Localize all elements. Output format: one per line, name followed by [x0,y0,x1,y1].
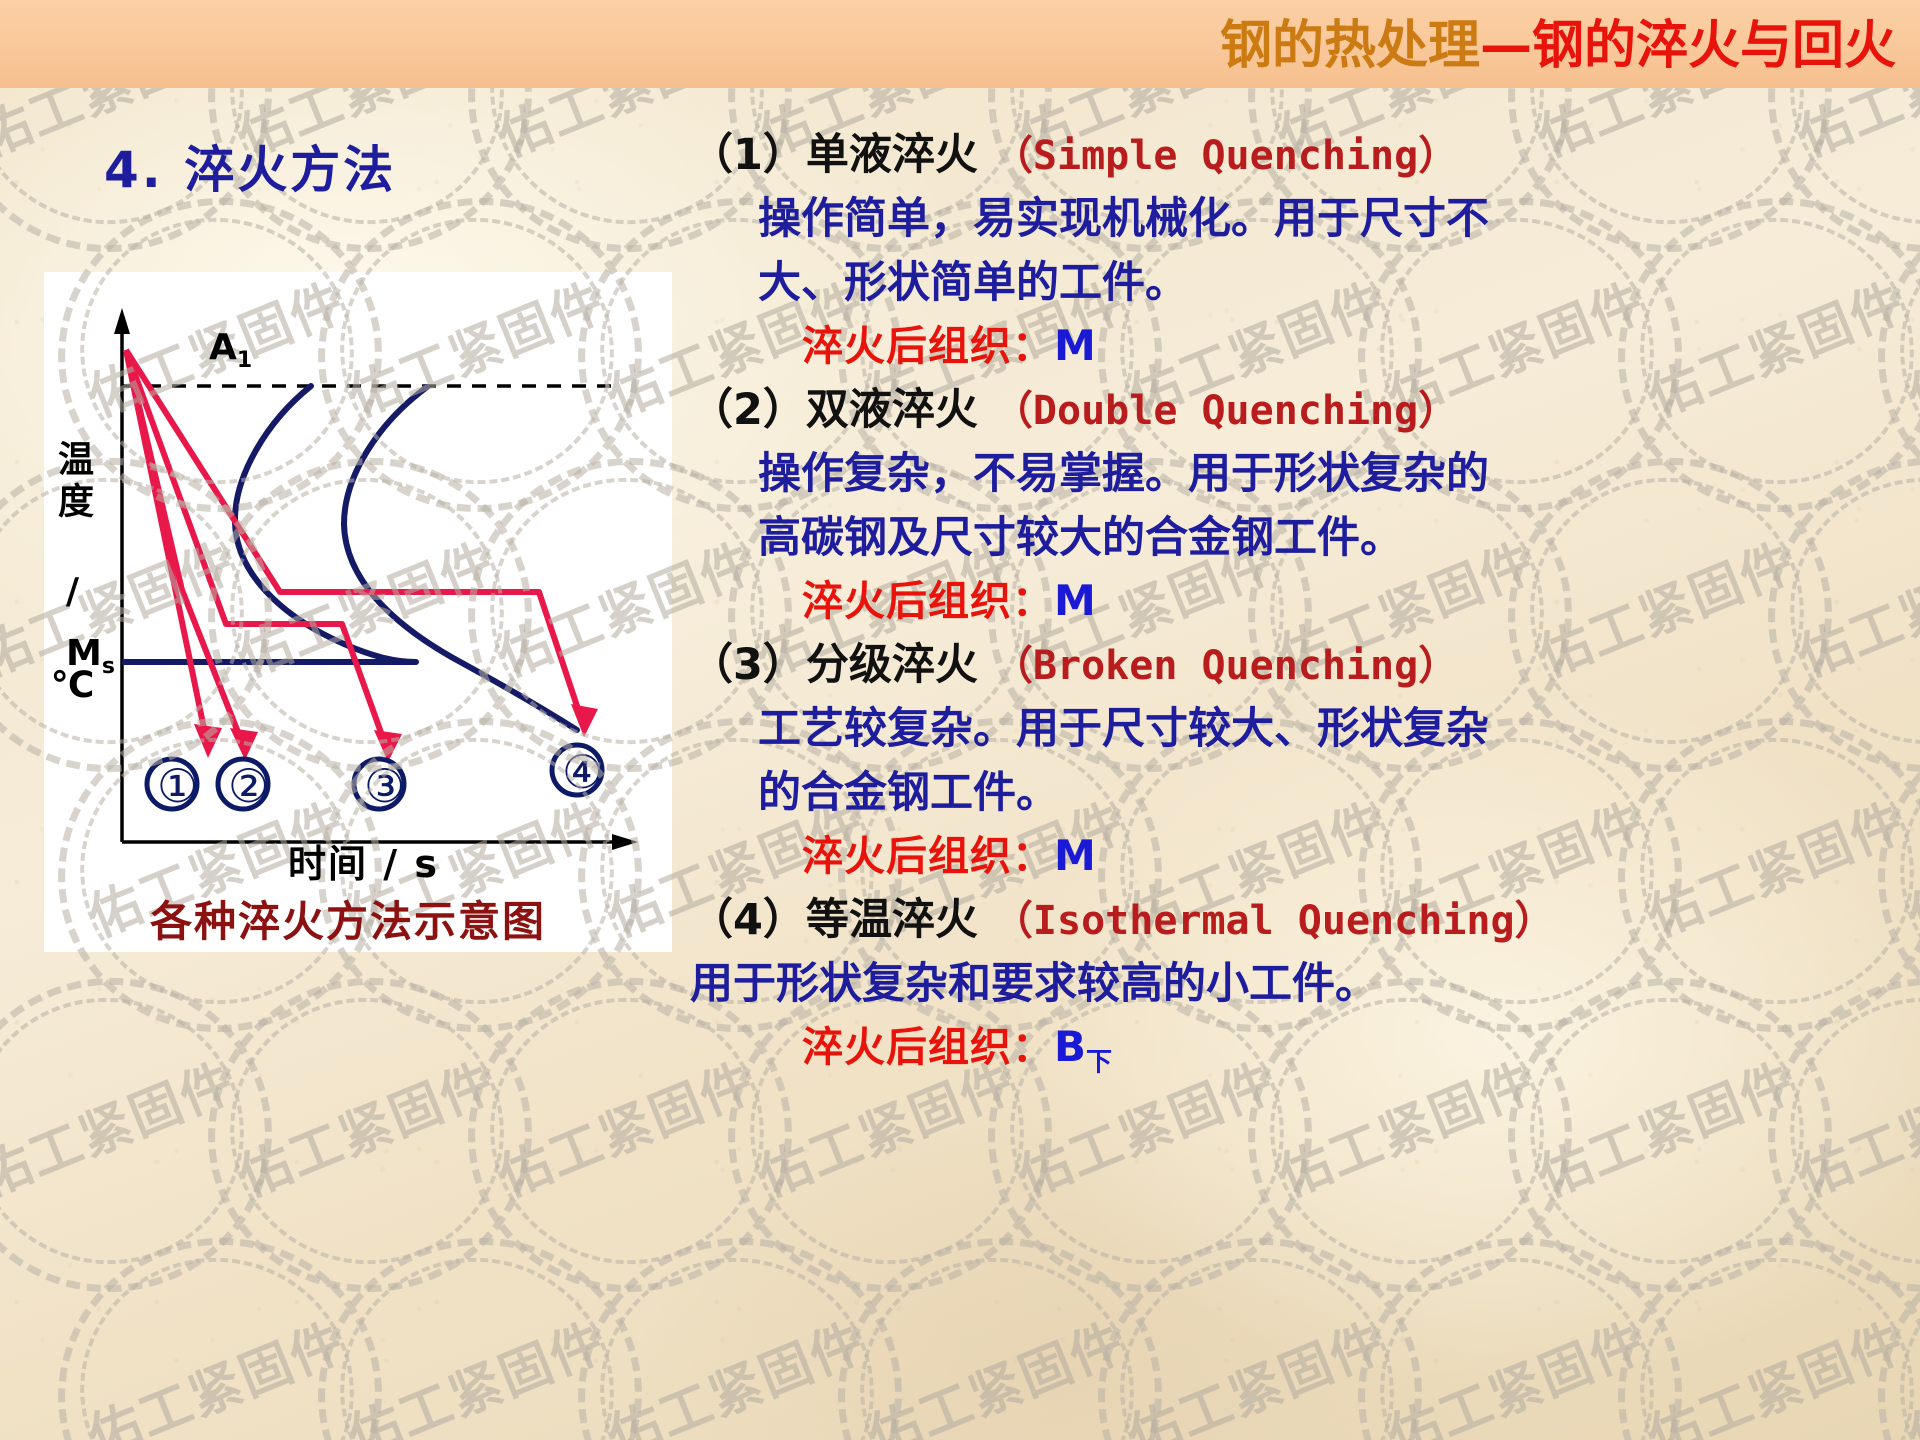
method-description-line: 大、形状简单的工件。 [690,251,1902,315]
ttt-finish-curve [344,387,577,730]
watermark-text: 佑工紧固件 [828,1289,1162,1440]
watermark-stamp: 佑工紧固件 [830,1230,1160,1440]
method-result: 淬火后组织：M [690,825,1902,887]
watermark-text: 佑工紧固件 [48,1289,382,1440]
content-list: （1）单液淬火 （Simple Quenching）操作简单，易实现机械化。用于… [690,124,1902,1095]
marker-label-4: ④ [562,745,603,799]
method-number: （2） [690,385,806,435]
page-title-main: 钢的热处理 [1220,16,1480,76]
slide-canvas: 佑工紧固件佑工紧固件佑工紧固件佑工紧固件佑工紧固件佑工紧固件佑工紧固件佑工紧固件… [0,0,1920,1440]
quench-method-block: （3）分级淬火 （Broken Quenching）工艺较复杂。用于尺寸较大、形… [690,634,1902,887]
watermark-text: 佑工紧固件 [198,1029,532,1222]
figure-caption: 各种淬火方法示意图 [150,888,546,949]
method-number: （4） [690,895,806,945]
watermark-stamp: 佑工紧固件 [1610,1230,1920,1440]
watermark-ring-outer [1598,1217,1920,1440]
watermark-ring-outer [0,957,292,1313]
watermark-ring-inner [0,972,269,1289]
watermark-ring-outer [558,1217,923,1440]
x-axis-label: 时间 / s [288,833,439,888]
result-value: M [1054,321,1096,370]
method-name-cn: 单液淬火 [806,130,993,180]
method-description-line: 操作复杂，不易掌握。用于形状复杂的 [690,442,1902,506]
method-name-en: （Broken Quenching） [993,643,1458,689]
method-heading: （1）单液淬火 （Simple Quenching） [690,124,1902,187]
result-value: M [1054,831,1096,880]
method-description-line: 用于形状复杂和要求较高的小工件。 [690,952,1902,1016]
watermark-stamp: 佑工紧固件 [1090,1230,1420,1440]
watermark-ring-inner [55,1232,378,1440]
marker-label-2: ② [228,759,269,813]
watermark-ring-outer [1078,1217,1443,1440]
method-name-cn: 等温淬火 [806,895,993,945]
watermark-ring-inner [1615,1232,1920,1440]
method-name-en: （Isothermal Quenching） [993,898,1555,944]
method-description-line: 操作简单，易实现机械化。用于尺寸不 [690,187,1902,251]
a1-label: A1 [209,327,252,373]
watermark-stamp: 佑工紧固件 [310,1230,640,1440]
watermark-stamp: 佑工紧固件 [0,970,270,1300]
method-name-cn: 双液淬火 [806,385,993,435]
method-description-line: 工艺较复杂。用于尺寸较大、形状复杂 [690,697,1902,761]
watermark-ring-outer [818,1217,1183,1440]
watermark-text: 佑工紧固件 [1868,1289,1920,1440]
watermark-ring-inner [1875,1232,1920,1440]
page-title-sub: —钢的淬火与回火 [1480,16,1896,76]
method-heading: （4）等温淬火 （Isothermal Quenching） [690,889,1902,952]
section-heading: 4. 淬火方法 [104,130,396,202]
method-name-cn: 分级淬火 [806,640,993,690]
watermark-text: 佑工紧固件 [568,1289,902,1440]
watermark-stamp: 佑工紧固件 [1350,1230,1680,1440]
result-label: 淬火后组织： [802,832,1054,880]
watermark-ring-inner [575,1232,898,1440]
method-result: 淬火后组织：B下 [690,1016,1902,1093]
watermark-stamp: 佑工紧固件 [200,970,530,1300]
method-name-en: （Simple Quenching） [993,133,1458,179]
watermark-ring-outer [298,1217,663,1440]
result-label: 淬火后组织： [802,577,1054,625]
method-number: （1） [690,130,806,180]
watermark-text: 佑工紧固件 [1608,1289,1920,1440]
watermark-ring-inner [315,1232,638,1440]
quench-method-block: （1）单液淬火 （Simple Quenching）操作简单，易实现机械化。用于… [690,124,1902,377]
watermark-text: 佑工紧固件 [1348,1289,1682,1440]
method-description-line: 高碳钢及尺寸较大的合金钢工件。 [690,506,1902,570]
watermark-stamp: 佑工紧固件 [570,1230,900,1440]
watermark-ring-outer [38,1217,403,1440]
watermark-stamp: 佑工紧固件 [50,1230,380,1440]
watermark-ring-inner [1095,1232,1418,1440]
method-description-line: 的合金钢工件。 [690,761,1902,825]
watermark-ring-inner [1355,1232,1678,1440]
result-label: 淬火后组织： [802,322,1054,370]
result-value-subscript: 下 [1086,1047,1112,1077]
watermark-ring-outer [1858,1217,1920,1440]
watermark-text: 佑工紧固件 [0,1029,272,1222]
ttt-start-curve [235,386,416,662]
method-result: 淬火后组织：M [690,570,1902,632]
result-label: 淬火后组织： [802,1023,1054,1071]
watermark-ring-outer [1338,1217,1703,1440]
watermark-text: 佑工紧固件 [308,1289,642,1440]
method-heading: （2）双液淬火 （Double Quenching） [690,379,1902,442]
y-axis-label: 温度 / ℃ [46,440,98,712]
method-name-en: （Double Quenching） [993,388,1458,434]
watermark-ring-outer [188,957,553,1313]
quench-method-block: （4）等温淬火 （Isothermal Quenching）用于形状复杂和要求较… [690,889,1902,1093]
method-number: （3） [690,640,806,690]
page-title: 钢的热处理—钢的淬火与回火 [1220,4,1896,88]
watermark-ring-inner [835,1232,1158,1440]
result-value: M [1054,576,1096,625]
watermark-stamp: 佑工紧固件 [1870,1230,1920,1440]
watermark-ring-inner [205,972,528,1289]
cooling-curve-2 [126,350,245,750]
quench-method-block: （2）双液淬火 （Double Quenching）操作复杂，不易掌握。用于形状… [690,379,1902,632]
marker-label-3: ③ [364,759,405,813]
method-result: 淬火后组织：M [690,315,1902,377]
watermark-text: 佑工紧固件 [1088,1289,1422,1440]
curve-arrowheads [194,704,598,762]
header-bar: 钢的热处理—钢的淬火与回火 [0,0,1920,88]
marker-label-1: ① [157,759,198,813]
method-heading: （3）分级淬火 （Broken Quenching） [690,634,1902,697]
result-value: B下 [1054,1022,1112,1071]
